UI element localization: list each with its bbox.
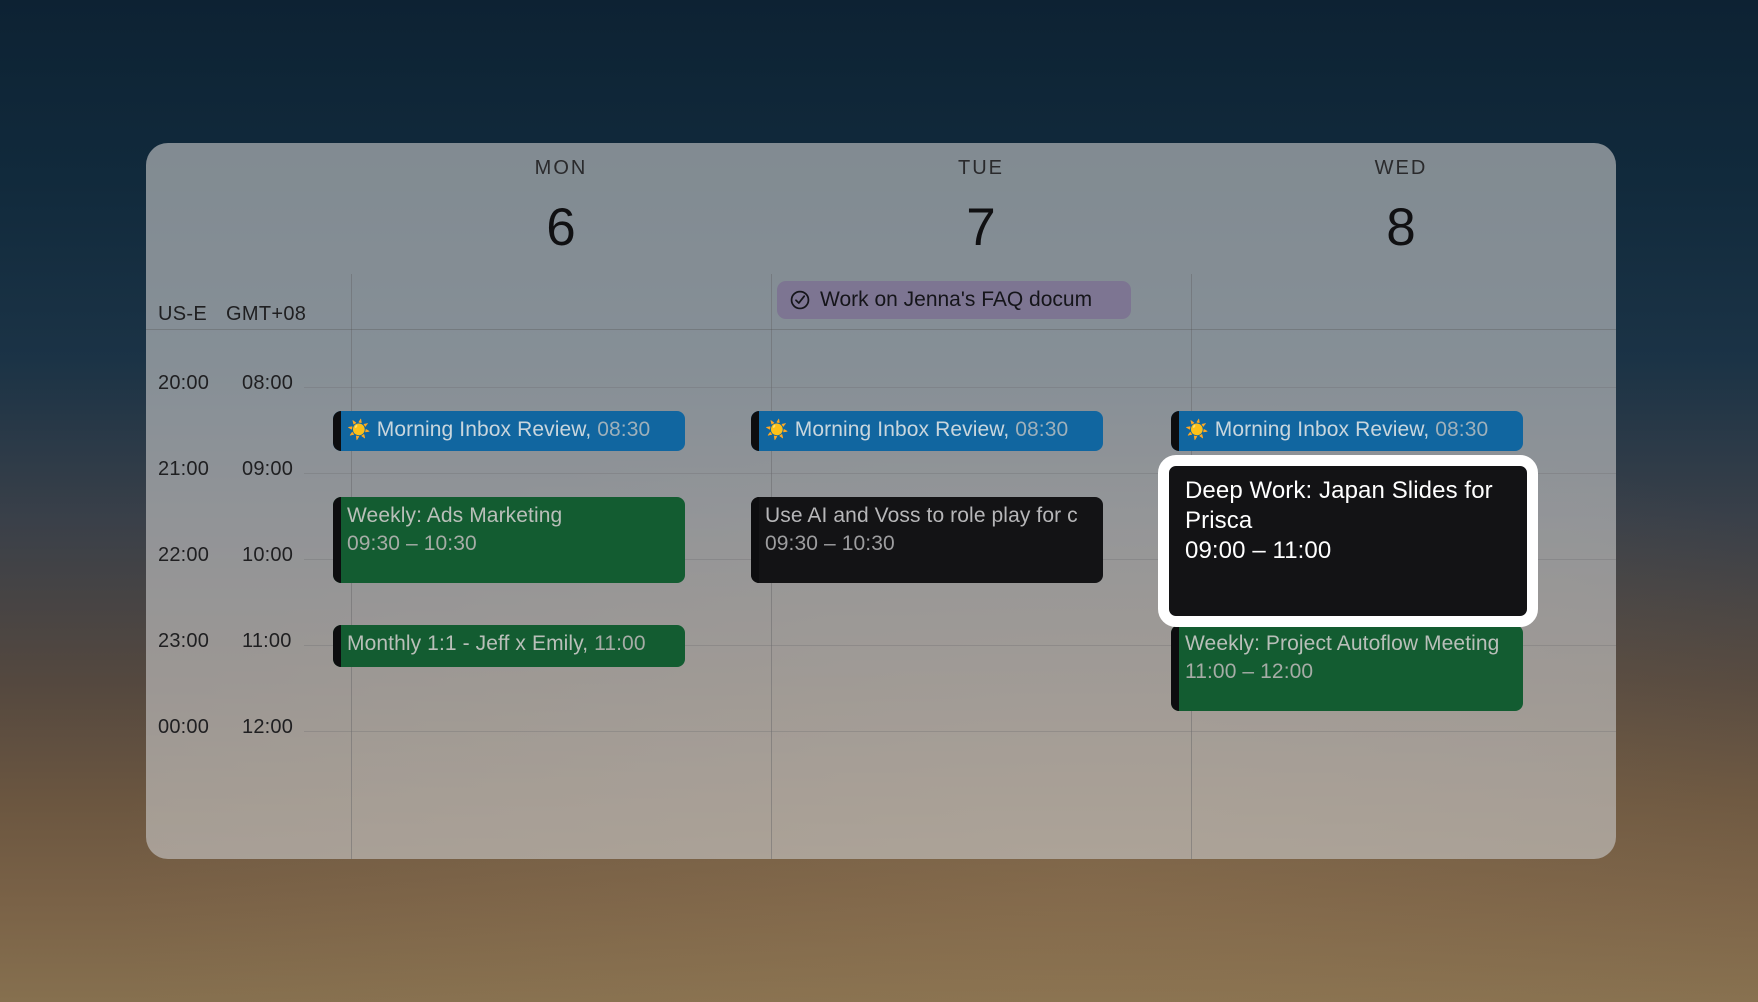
event-title: Deep Work: Japan Slides for Prisca bbox=[1185, 476, 1513, 536]
time-label-right-2: 10:00 bbox=[242, 544, 293, 567]
event-time: 11:00 – 12:00 bbox=[1185, 658, 1513, 686]
grid-hline-1100 bbox=[304, 731, 1616, 732]
time-label-left-0: 20:00 bbox=[158, 372, 209, 395]
event-tue-use-ai-and-voss-role-play[interactable]: Use AI and Voss to role play for c 09:30… bbox=[751, 497, 1103, 583]
event-wed-morning-inbox-review[interactable]: ☀️Morning Inbox Review, 08:30 bbox=[1171, 411, 1523, 451]
day-number-wed: 8 bbox=[1191, 201, 1611, 254]
time-label-left-4: 00:00 bbox=[158, 716, 209, 739]
event-time: 09:30 – 10:30 bbox=[765, 530, 1093, 558]
check-circle-icon bbox=[789, 289, 811, 311]
event-title: Use AI and Voss to role play for c bbox=[765, 502, 1093, 530]
event-title: Weekly: Ads Marketing bbox=[347, 502, 675, 530]
sun-icon: ☀️ bbox=[1185, 420, 1209, 441]
event-mon-weekly-ads-marketing[interactable]: Weekly: Ads Marketing 09:30 – 10:30 bbox=[333, 497, 685, 583]
event-time: 09:30 – 10:30 bbox=[347, 530, 675, 558]
event-time: 08:30 bbox=[597, 418, 650, 441]
event-title: Monthly 1:1 - Jeff x Emily, bbox=[347, 632, 588, 655]
timezone-label-left: US-E bbox=[158, 303, 207, 326]
allday-event-work-on-jennas-faq[interactable]: Work on Jenna's FAQ docum bbox=[777, 281, 1131, 319]
event-mon-monthly-1-1-jeff-x-emily[interactable]: Monthly 1:1 - Jeff x Emily, 11:00 bbox=[333, 625, 685, 667]
event-title-line: ☀️Morning Inbox Review, 08:30 bbox=[765, 416, 1093, 445]
day-name-mon: MON bbox=[351, 157, 771, 180]
allday-event-title: Work on Jenna's FAQ docum bbox=[820, 288, 1092, 312]
event-title: Morning Inbox Review, bbox=[377, 418, 592, 441]
event-title: Morning Inbox Review, bbox=[795, 418, 1010, 441]
timezone-label-right: GMT+08 bbox=[226, 303, 306, 326]
event-title-line: ☀️Morning Inbox Review, 08:30 bbox=[347, 416, 675, 445]
grid-hline-allday bbox=[146, 329, 1616, 330]
calendar-week-panel: MON 6 TUE 7 WED 8 US-E GMT+08 20:00 08:0… bbox=[146, 143, 1616, 859]
event-tue-morning-inbox-review[interactable]: ☀️Morning Inbox Review, 08:30 bbox=[751, 411, 1103, 451]
day-name-tue: TUE bbox=[771, 157, 1191, 180]
event-time: 09:00 – 11:00 bbox=[1185, 536, 1513, 566]
event-title-line: ☀️Morning Inbox Review, 08:30 bbox=[1185, 416, 1513, 445]
event-time: 11:00 bbox=[594, 632, 646, 655]
sun-icon: ☀️ bbox=[347, 420, 371, 441]
event-time: 08:30 bbox=[1015, 418, 1068, 441]
event-wed-weekly-project-autoflow-meeting[interactable]: Weekly: Project Autoflow Meeting 11:00 –… bbox=[1171, 625, 1523, 711]
day-header-tue[interactable]: TUE 7 bbox=[771, 157, 1191, 254]
time-label-left-3: 23:00 bbox=[158, 630, 209, 653]
time-label-right-0: 08:00 bbox=[242, 372, 293, 395]
time-label-left-2: 22:00 bbox=[158, 544, 209, 567]
time-label-right-1: 09:00 bbox=[242, 458, 293, 481]
day-header-mon[interactable]: MON 6 bbox=[351, 157, 771, 254]
day-header-wed[interactable]: WED 8 bbox=[1191, 157, 1611, 254]
timezone-header: US-E GMT+08 bbox=[146, 303, 356, 347]
event-title-line: Monthly 1:1 - Jeff x Emily, 11:00 bbox=[347, 630, 675, 658]
event-title: Morning Inbox Review, bbox=[1215, 418, 1430, 441]
time-label-right-3: 11:00 bbox=[242, 630, 292, 653]
event-time: 08:30 bbox=[1435, 418, 1488, 441]
time-label-right-4: 12:00 bbox=[242, 716, 293, 739]
desktop-background: MON 6 TUE 7 WED 8 US-E GMT+08 20:00 08:0… bbox=[0, 0, 1758, 1002]
event-wed-deep-work-japan-slides-selected[interactable]: Deep Work: Japan Slides for Prisca 09:00… bbox=[1158, 455, 1538, 627]
day-number-mon: 6 bbox=[351, 201, 771, 254]
event-title: Weekly: Project Autoflow Meeting bbox=[1185, 630, 1513, 658]
day-name-wed: WED bbox=[1191, 157, 1611, 180]
grid-hline-0800 bbox=[304, 387, 1616, 388]
time-label-left-1: 21:00 bbox=[158, 458, 209, 481]
sun-icon: ☀️ bbox=[765, 420, 789, 441]
event-mon-morning-inbox-review[interactable]: ☀️Morning Inbox Review, 08:30 bbox=[333, 411, 685, 451]
day-number-tue: 7 bbox=[771, 201, 1191, 254]
